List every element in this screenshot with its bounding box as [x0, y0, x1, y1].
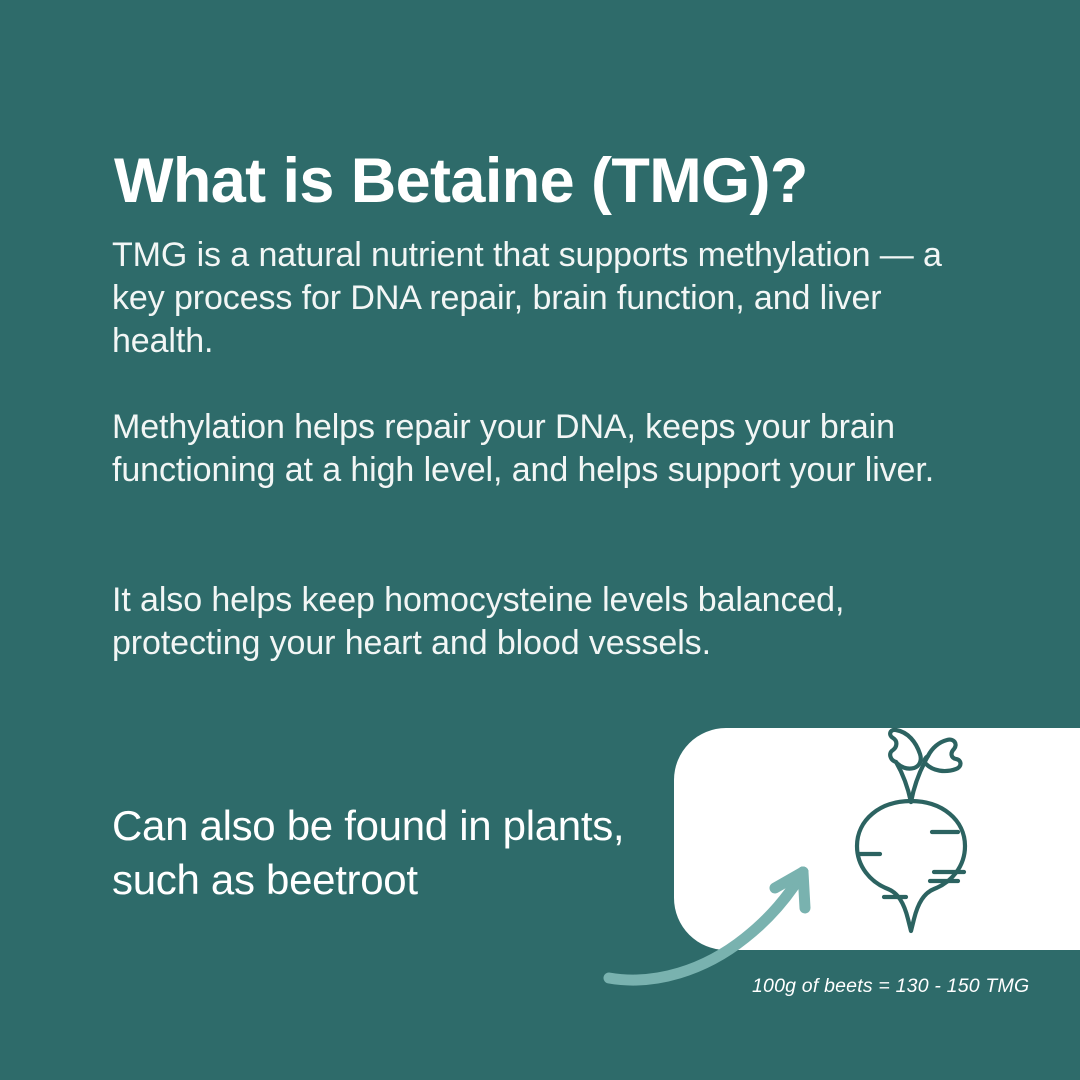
slide-canvas: What is Betaine (TMG)? TMG is a natural … [0, 0, 1080, 1080]
body-paragraph-2: Methylation helps repair your DNA, keeps… [112, 406, 962, 492]
page-title: What is Betaine (TMG)? [114, 148, 974, 214]
body-paragraph-2-wrap: Methylation helps repair your DNA, keeps… [112, 406, 962, 492]
beetroot-icon [846, 726, 976, 952]
beet-tmg-caption: 100g of beets = 130 - 150 TMG [752, 975, 1029, 998]
callout-text: Can also be found in plants, such as bee… [112, 799, 692, 907]
body-paragraph-3: It also helps keep homocysteine levels b… [112, 579, 962, 665]
body-paragraph-1: TMG is a natural nutrient that supports … [112, 234, 962, 363]
body-paragraph-1-wrap: TMG is a natural nutrient that supports … [112, 234, 962, 363]
body-paragraph-3-wrap: It also helps keep homocysteine levels b… [112, 579, 962, 665]
